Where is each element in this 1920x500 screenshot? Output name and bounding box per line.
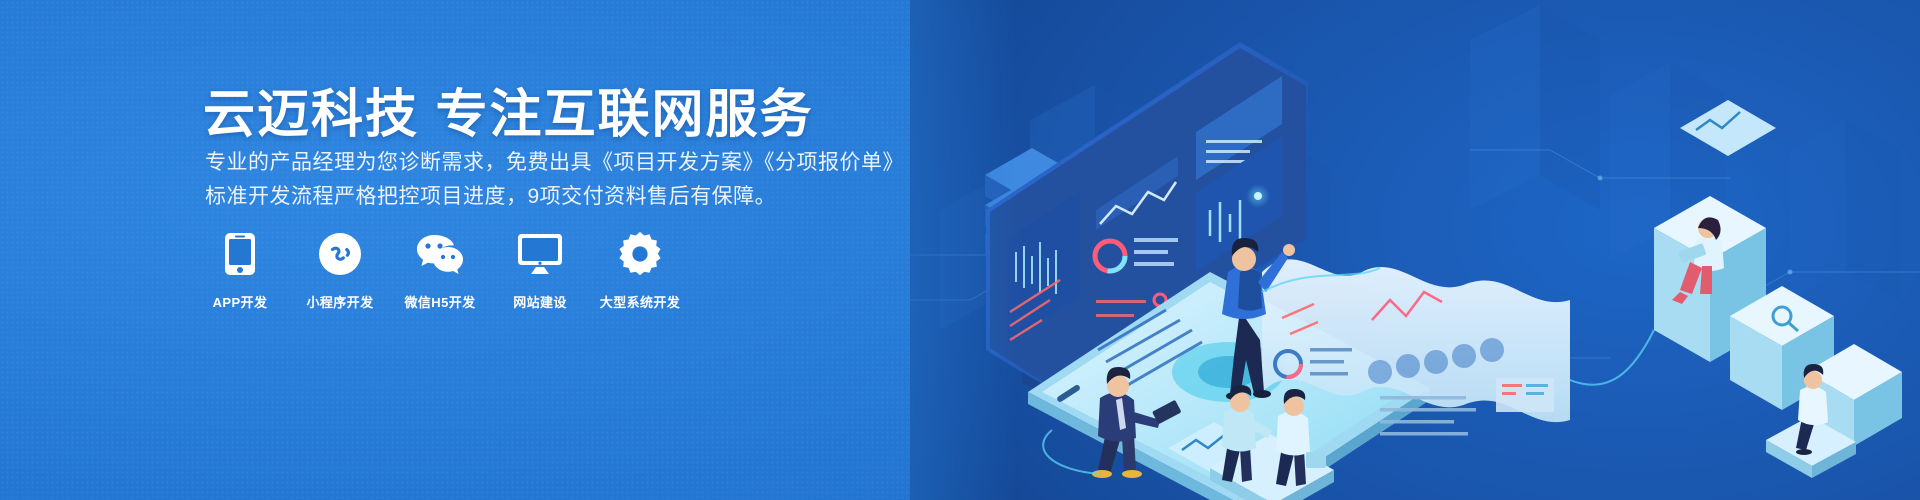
service-item-large-system[interactable]: 大型系统开发 — [603, 232, 677, 311]
monitor-icon — [517, 232, 563, 276]
service-label: 网站建设 — [513, 292, 567, 311]
service-item-app[interactable]: APP开发 — [203, 232, 277, 311]
mobile-phone-icon — [223, 232, 257, 276]
service-item-website[interactable]: 网站建设 — [503, 232, 577, 311]
isometric-illustration — [910, 0, 1920, 500]
banner-subtitle-line-1: 专业的产品经理为您诊断需求，免费出具《项目开发方案》《分项报价单》 — [205, 146, 904, 176]
service-item-wechat-h5[interactable]: 微信H5开发 — [403, 232, 477, 311]
gear-icon — [618, 232, 662, 276]
banner-subtitle-line-2: 标准开发流程严格把控项目进度，9项交付资料售后有保障。 — [205, 180, 776, 210]
service-item-mini-program[interactable]: 小程序开发 — [303, 232, 377, 311]
banner-content: 云迈科技 专注互联网服务 专业的产品经理为您诊断需求，免费出具《项目开发方案》《… — [203, 0, 943, 500]
promo-banner: 云迈科技 专注互联网服务 专业的产品经理为您诊断需求，免费出具《项目开发方案》《… — [0, 0, 1920, 500]
service-label: APP开发 — [213, 292, 268, 311]
service-label: 微信H5开发 — [404, 292, 475, 311]
banner-title: 云迈科技 专注互联网服务 — [203, 72, 813, 147]
wechat-icon — [415, 232, 465, 276]
service-label: 小程序开发 — [306, 292, 373, 311]
service-icon-list: APP开发 小程序开发 — [203, 232, 677, 311]
service-label: 大型系统开发 — [600, 292, 680, 311]
mini-program-icon — [318, 232, 362, 276]
